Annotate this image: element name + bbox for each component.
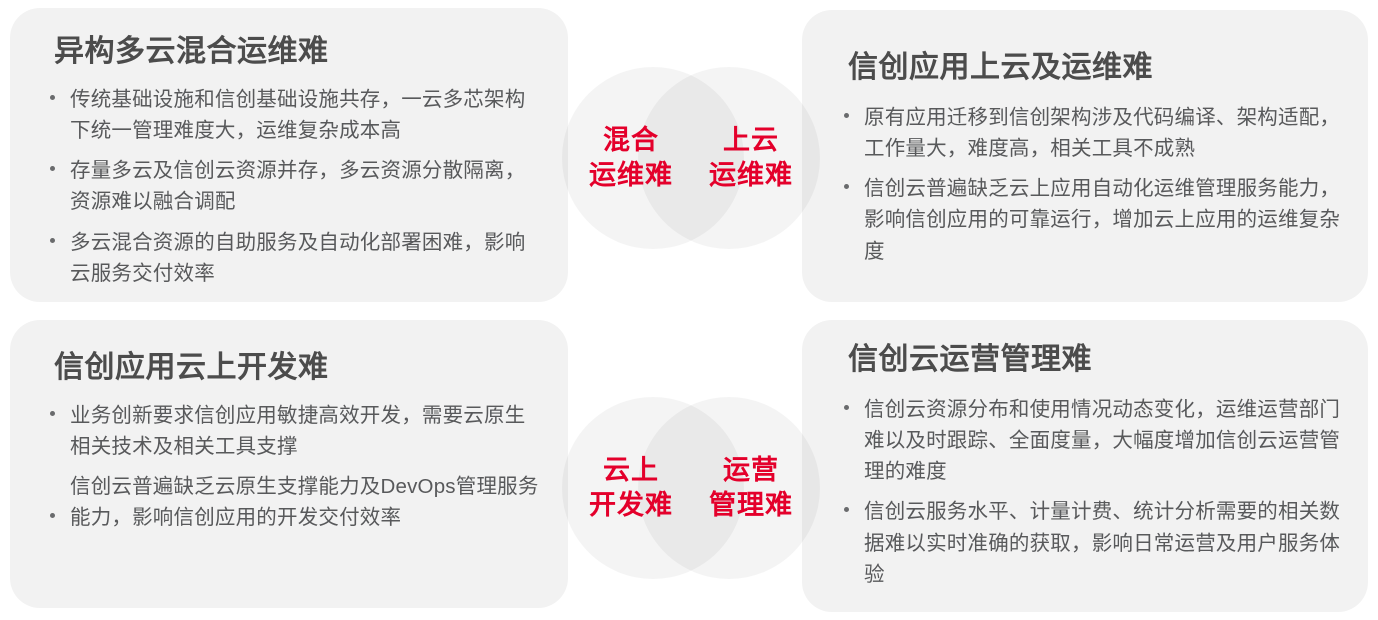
list-item: 信创云普遍缺乏云原生支撑能力及DevOps管理服务能力，影响信创应用的开发交付效…: [46, 471, 542, 533]
bullet-list: 业务创新要求信创应用敏捷高效开发，需要云原生相关技术及相关工具支撑 信创云普遍缺…: [46, 400, 542, 534]
list-item-text: 信创云服务水平、计量计费、统计分析需要的相关数据难以实时准确的获取，影响日常运营…: [864, 500, 1340, 585]
list-item: 信创云普遍缺乏云上应用自动化运维管理服务能力，影响信创应用的可靠运行，增加云上应…: [840, 173, 1342, 266]
list-item: 业务创新要求信创应用敏捷高效开发，需要云原生相关技术及相关工具支撑: [46, 400, 542, 462]
bullet-dot-icon: [844, 184, 849, 189]
venn-diagram-top: 混合 运维难 上云 运维难: [562, 67, 820, 249]
bullet-dot-icon: [844, 113, 849, 118]
card-xinchuang-cloud-operations-mgmt: 信创云运营管理难 信创云资源分布和使用情况动态变化，运维运营部门难以及时跟踪、全…: [802, 320, 1368, 612]
bullet-dot-icon: [50, 513, 55, 518]
bullet-list: 原有应用迁移到信创架构涉及代码编译、架构适配，工作量大，难度高，相关工具不成熟 …: [840, 102, 1342, 267]
card-xinchuang-app-to-cloud-ops: 信创应用上云及运维难 原有应用迁移到信创架构涉及代码编译、架构适配，工作量大，难…: [802, 10, 1368, 302]
bullet-list: 传统基础设施和信创基础设施共存，一云多芯架构下统一管理难度大，运维复杂成本高 存…: [46, 84, 542, 289]
list-item-text: 信创云普遍缺乏云原生支撑能力及DevOps管理服务能力，影响信创应用的开发交付效…: [70, 475, 539, 529]
list-item-text: 信创云普遍缺乏云上应用自动化运维管理服务能力，影响信创应用的可靠运行，增加云上应…: [864, 177, 1340, 262]
list-item-text: 多云混合资源的自助服务及自动化部署困难，影响云服务交付效率: [70, 231, 525, 285]
bullet-dot-icon: [50, 166, 55, 171]
venn-label-operations-management: 运营 管理难: [660, 397, 842, 579]
venn-label-line1: 上云: [723, 123, 779, 158]
card-title: 异构多云混合运维难: [54, 34, 542, 70]
bullet-dot-icon: [50, 95, 55, 100]
bullet-dot-icon: [50, 238, 55, 243]
card-heterogeneous-multicloud-ops: 异构多云混合运维难 传统基础设施和信创基础设施共存，一云多芯架构下统一管理难度大…: [10, 8, 568, 302]
list-item: 原有应用迁移到信创架构涉及代码编译、架构适配，工作量大，难度高，相关工具不成熟: [840, 102, 1342, 164]
card-xinchuang-app-cloud-dev: 信创应用云上开发难 业务创新要求信创应用敏捷高效开发，需要云原生相关技术及相关工…: [10, 320, 568, 608]
bullet-dot-icon: [844, 507, 849, 512]
venn-label-line1: 运营: [723, 453, 779, 488]
bullet-dot-icon: [50, 411, 55, 416]
card-title: 信创云运营管理难: [848, 342, 1342, 378]
list-item: 信创云服务水平、计量计费、统计分析需要的相关数据难以实时准确的获取，影响日常运营…: [840, 496, 1342, 589]
list-item: 信创云资源分布和使用情况动态变化，运维运营部门难以及时跟踪、全面度量，大幅度增加…: [840, 394, 1342, 487]
list-item: 存量多云及信创云资源并存，多云资源分散隔离，资源难以融合调配: [46, 155, 542, 217]
bullet-list: 信创云资源分布和使用情况动态变化，运维运营部门难以及时跟踪、全面度量，大幅度增加…: [840, 394, 1342, 590]
venn-label-line2: 管理难: [709, 488, 793, 523]
list-item-text: 原有应用迁移到信创架构涉及代码编译、架构适配，工作量大，难度高，相关工具不成熟: [864, 106, 1340, 160]
venn-label-cloud-migration-ops: 上云 运维难: [660, 67, 842, 249]
venn-label-line1: 云上: [603, 453, 659, 488]
bullet-dot-icon: [844, 405, 849, 410]
list-item-text: 存量多云及信创云资源并存，多云资源分散隔离，资源难以融合调配: [70, 159, 525, 213]
diagram-canvas: 异构多云混合运维难 传统基础设施和信创基础设施共存，一云多芯架构下统一管理难度大…: [0, 0, 1378, 620]
list-item-text: 传统基础设施和信创基础设施共存，一云多芯架构下统一管理难度大，运维复杂成本高: [70, 88, 525, 142]
list-item-text: 业务创新要求信创应用敏捷高效开发，需要云原生相关技术及相关工具支撑: [70, 404, 525, 458]
list-item: 多云混合资源的自助服务及自动化部署困难，影响云服务交付效率: [46, 227, 542, 289]
list-item: 传统基础设施和信创基础设施共存，一云多芯架构下统一管理难度大，运维复杂成本高: [46, 84, 542, 146]
card-title: 信创应用云上开发难: [54, 350, 542, 386]
venn-label-line2: 运维难: [709, 158, 793, 193]
venn-diagram-bottom: 云上 开发难 运营 管理难: [562, 397, 820, 579]
list-item-text: 信创云资源分布和使用情况动态变化，运维运营部门难以及时跟踪、全面度量，大幅度增加…: [864, 398, 1340, 483]
card-title: 信创应用上云及运维难: [848, 50, 1342, 86]
venn-label-line1: 混合: [603, 123, 659, 158]
